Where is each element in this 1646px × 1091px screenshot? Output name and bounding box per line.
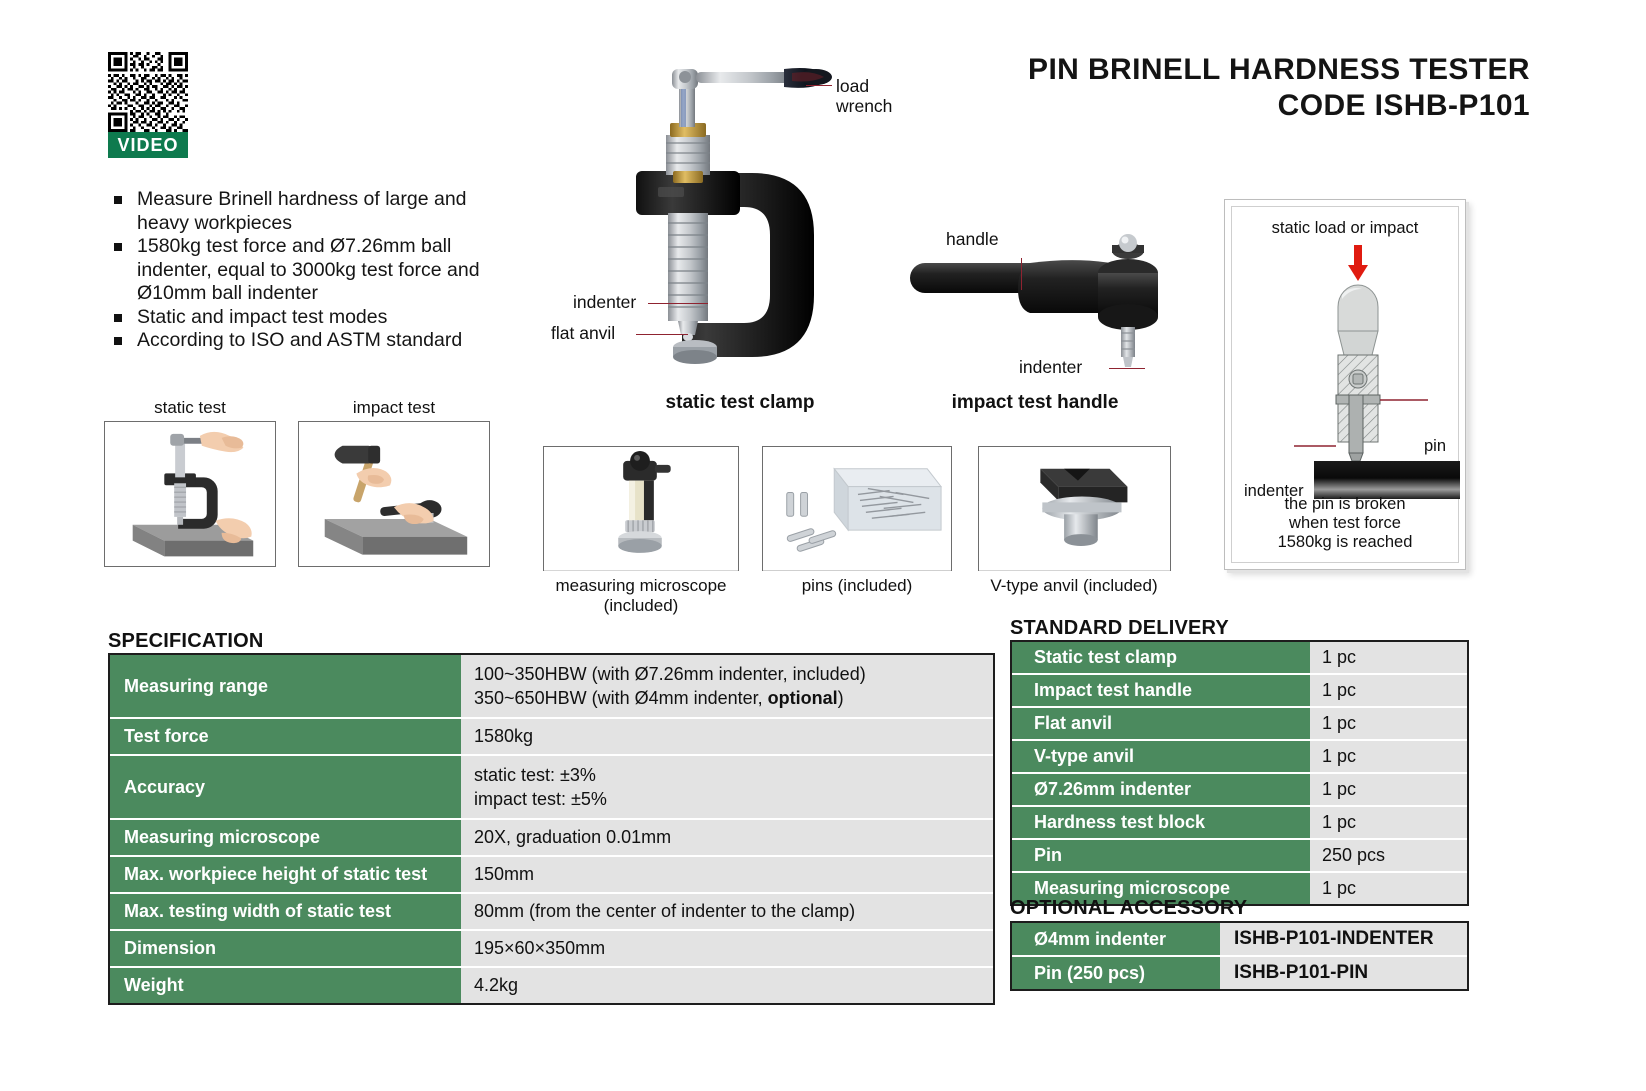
spec-label: Max. workpiece height of static test <box>110 857 461 894</box>
page-title: PIN BRINELL HARDNESS TESTER CODE ISHB-P1… <box>1028 52 1530 124</box>
pins-photo <box>762 446 952 571</box>
table-row: Weight 4.2kg <box>110 968 993 1003</box>
impact-test-illustration <box>299 422 489 566</box>
delivery-item: Impact test handle <box>1012 675 1310 708</box>
indenter-leader-line <box>648 303 708 304</box>
impact-test-handle-caption: impact test handle <box>880 392 1190 414</box>
specification-table: Measuring range 100~350HBW (with Ø7.26mm… <box>108 653 995 1005</box>
handle-leader-line <box>1021 258 1022 290</box>
table-row: V-type anvil 1 pc <box>1012 741 1467 774</box>
table-row: Flat anvil 1 pc <box>1012 708 1467 741</box>
impact-test-photo-caption: impact test <box>298 398 490 418</box>
table-row: Dimension 195×60×350mm <box>110 931 993 968</box>
spec-label: Accuracy <box>110 756 461 820</box>
spec-value: static test: ±3% impact test: ±5% <box>461 756 993 820</box>
table-row: Hardness test block 1 pc <box>1012 807 1467 840</box>
table-row: Ø7.26mm indenter 1 pc <box>1012 774 1467 807</box>
delivery-item: Static test clamp <box>1012 642 1310 675</box>
spec-value-line: impact test: ±5% <box>474 787 993 811</box>
specification-title: SPECIFICATION <box>108 630 264 653</box>
spec-value: 80mm (from the center of indenter to the… <box>461 894 993 931</box>
optional-emphasis: optional <box>768 688 838 708</box>
delivery-qty: 1 pc <box>1310 873 1467 904</box>
microscope-illustration <box>544 447 738 571</box>
table-row: Max. testing width of static test 80mm (… <box>110 894 993 931</box>
spec-label-line: Max. workpiece height <box>124 864 316 884</box>
optional-accessory-title: OPTIONAL ACCESSORY <box>1010 897 1247 920</box>
diagram-caption-line2: when test force <box>1289 514 1401 532</box>
principle-diagram-svg <box>1232 233 1460 523</box>
table-row: Accuracy static test: ±3% impact test: ±… <box>110 756 993 820</box>
delivery-qty: 1 pc <box>1310 774 1467 807</box>
flat-anvil-callout: flat anvil <box>551 323 615 343</box>
delivery-qty: 1 pc <box>1310 807 1467 840</box>
v-anvil-photo-caption: V-type anvil (included) <box>968 576 1180 596</box>
accessory-item: Ø4mm indenter <box>1012 923 1220 957</box>
delivery-item: Hardness test block <box>1012 807 1310 840</box>
feature-item: According to ISO and ASTM standard <box>110 329 505 353</box>
table-row: Max. workpiece height of static test 150… <box>110 857 993 894</box>
delivery-qty: 1 pc <box>1310 642 1467 675</box>
spec-label: Dimension <box>110 931 461 968</box>
table-row: Ø4mm indenter ISHB-P101-INDENTER <box>1012 923 1467 957</box>
table-row: Static test clamp 1 pc <box>1012 642 1467 675</box>
table-row: Measuring range 100~350HBW (with Ø7.26mm… <box>110 655 993 719</box>
load-arrow-icon <box>1348 245 1368 281</box>
title-line-1: PIN BRINELL HARDNESS TESTER <box>1028 52 1530 88</box>
spec-label: Max. testing width of static test <box>110 894 461 931</box>
table-row: Test force 1580kg <box>110 719 993 756</box>
pins-photo-caption: pins (included) <box>757 576 957 596</box>
accessory-code: ISHB-P101-PIN <box>1220 957 1467 989</box>
indenter-callout: indenter <box>573 292 636 312</box>
spec-value-line: 100~350HBW (with Ø7.26mm indenter, inclu… <box>474 662 993 686</box>
standard-delivery-table: Static test clamp 1 pc Impact test handl… <box>1010 640 1469 906</box>
load-wrench-leader-line <box>806 85 832 86</box>
handle-indenter-callout: indenter <box>1019 357 1082 377</box>
diagram-caption: the pin is broken when test force 1580kg… <box>1232 495 1458 552</box>
principle-diagram-inner: static load or impact <box>1231 206 1459 563</box>
spec-label: Weight <box>110 968 461 1003</box>
v-anvil-photo <box>978 446 1171 571</box>
pins-illustration <box>763 447 951 571</box>
principle-diagram-panel: static load or impact <box>1224 199 1466 570</box>
video-qr-block[interactable]: VIDEO <box>108 52 188 158</box>
static-test-photo <box>104 421 276 567</box>
static-test-photo-caption: static test <box>104 398 276 418</box>
delivery-item: Ø7.26mm indenter <box>1012 774 1310 807</box>
flat-anvil-leader-line <box>636 334 688 335</box>
accessory-item: Pin (250 pcs) <box>1012 957 1220 989</box>
delivery-qty: 1 pc <box>1310 741 1467 774</box>
feature-item: Measure Brinell hardness of large and he… <box>110 188 505 235</box>
load-wrench-callout: load wrench <box>836 76 892 116</box>
spec-value-line: static test: ±3% <box>474 763 993 787</box>
qr-code-icon <box>108 52 188 132</box>
spec-value-line: 350~650HBW (with Ø4mm indenter, optional… <box>474 686 993 710</box>
standard-delivery-title: STANDARD DELIVERY <box>1010 617 1229 640</box>
delivery-qty: 1 pc <box>1310 675 1467 708</box>
feature-item: Static and impact test modes <box>110 306 505 330</box>
diagram-caption-line3: 1580kg is reached <box>1278 533 1413 551</box>
diagram-pin-label: pin <box>1424 437 1446 456</box>
spec-label: Test force <box>110 719 461 756</box>
delivery-qty: 1 pc <box>1310 708 1467 741</box>
microscope-photo-caption: measuring microscope (included) <box>535 576 747 616</box>
static-test-clamp-caption: static test clamp <box>560 392 920 414</box>
table-row: Impact test handle 1 pc <box>1012 675 1467 708</box>
spec-label-line: of static test <box>321 864 427 884</box>
impact-test-photo <box>298 421 490 567</box>
table-row: Pin 250 pcs <box>1012 840 1467 873</box>
handle-callout: handle <box>946 229 999 249</box>
spec-label: Measuring range <box>110 655 461 719</box>
table-row: Pin (250 pcs) ISHB-P101-PIN <box>1012 957 1467 989</box>
spec-value: 4.2kg <box>461 968 993 1003</box>
microscope-photo <box>543 446 739 571</box>
delivery-item: V-type anvil <box>1012 741 1310 774</box>
feature-list: Measure Brinell hardness of large and he… <box>110 188 505 353</box>
spec-label: Measuring microscope <box>110 820 461 857</box>
title-line-2: CODE ISHB-P101 <box>1028 88 1530 124</box>
video-badge-label: VIDEO <box>108 132 188 158</box>
load-wrench-line1: load <box>836 76 869 96</box>
table-row: Measuring microscope 20X, graduation 0.0… <box>110 820 993 857</box>
spec-value: 20X, graduation 0.01mm <box>461 820 993 857</box>
spec-value: 100~350HBW (with Ø7.26mm indenter, inclu… <box>461 655 993 719</box>
delivery-item: Pin <box>1012 840 1310 873</box>
delivery-item: Flat anvil <box>1012 708 1310 741</box>
delivery-qty: 250 pcs <box>1310 840 1467 873</box>
optional-accessory-table: Ø4mm indenter ISHB-P101-INDENTER Pin (25… <box>1010 921 1469 991</box>
static-test-illustration <box>105 422 275 566</box>
load-wrench-line2: wrench <box>836 96 892 116</box>
spec-value: 195×60×350mm <box>461 931 993 968</box>
feature-item: 1580kg test force and Ø7.26mm ball inden… <box>110 235 505 306</box>
spec-value: 150mm <box>461 857 993 894</box>
v-anvil-illustration <box>979 447 1170 571</box>
spec-value: 1580kg <box>461 719 993 756</box>
diagram-caption-line1: the pin is broken <box>1284 495 1405 513</box>
microscope-caption-line1: measuring microscope <box>555 576 726 595</box>
accessory-code: ISHB-P101-INDENTER <box>1220 923 1467 957</box>
handle-indenter-leader-line <box>1109 368 1145 369</box>
microscope-caption-line2: (included) <box>604 596 679 615</box>
